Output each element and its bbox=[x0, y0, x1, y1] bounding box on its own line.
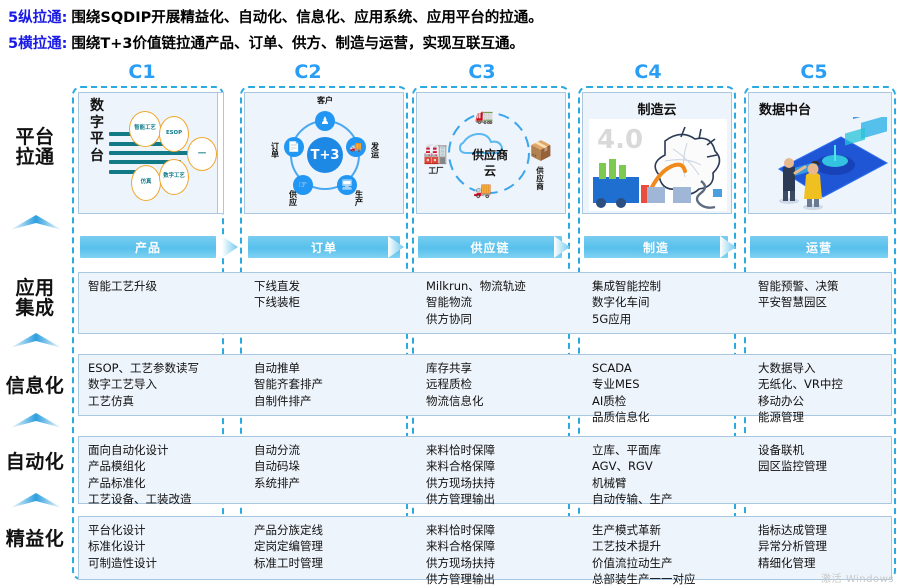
row-label-application-line-1: 应用 bbox=[0, 279, 70, 299]
cell-text: AGV、RGV bbox=[592, 458, 748, 474]
cell-text: 供方管理输出 bbox=[426, 491, 582, 507]
cell-text: 工艺设备、工装改造 bbox=[88, 491, 244, 507]
hand-icon: ☞ bbox=[293, 175, 313, 195]
cell-text: 物流信息化 bbox=[426, 393, 582, 409]
cell-informatization-c5: 大数据导入 无纸化、VR中控 移动办公 能源管理 bbox=[748, 354, 892, 416]
row-label-platform: 平台 拉通 bbox=[0, 128, 70, 168]
cell-lean-c1: 平台化设计 标准化设计 可制造性设计 bbox=[78, 516, 244, 580]
c1-node-1: 智能工艺 bbox=[129, 111, 161, 147]
row-label-automation: 自动化 bbox=[0, 453, 70, 473]
cell-text: 面向自动化设计 bbox=[88, 442, 244, 458]
cell-application-c5: 智能预警、决策 平安智慧园区 bbox=[748, 272, 892, 334]
cell-text: 产品模组化 bbox=[88, 458, 244, 474]
cell-text: 无纸化、VR中控 bbox=[758, 376, 892, 392]
cell-text: 工艺技术提升 bbox=[592, 538, 748, 554]
c1-vertical-title: 数 字 平 台 bbox=[87, 98, 107, 164]
cell-text: 供方现场扶持 bbox=[426, 475, 582, 491]
c2-center-label: T+3 bbox=[307, 137, 343, 173]
cell-text: SCADA bbox=[592, 360, 748, 376]
band-lean-grid: 平台化设计 标准化设计 可制造性设计 产品分族定线 定岗定编管理 标准工时管理 … bbox=[78, 516, 892, 580]
cell-text: Milkrun、物流轨迹 bbox=[426, 278, 582, 294]
cell-text: 智能预警、决策 bbox=[758, 278, 892, 294]
cell-text: 来料恰时保障 bbox=[426, 522, 582, 538]
band-application-grid: 智能工艺升级 下线直发 下线装柜 Milkrun、物流轨迹 智能物流 供方协同 … bbox=[78, 272, 892, 334]
c1-node-5: 数字工艺 bbox=[159, 159, 189, 195]
process-step-manufacturing[interactable]: 制造 bbox=[584, 236, 728, 258]
cell-application-c1: 智能工艺升级 bbox=[78, 272, 244, 334]
cell-automation-c2: 自动分流 自动码垛 系统排产 bbox=[244, 436, 416, 504]
cell-text: 机械臂 bbox=[592, 475, 748, 491]
column-title-c4: C4 bbox=[578, 61, 718, 83]
monitor-icon: 🖥 bbox=[337, 175, 357, 195]
chevron-up-icon-1 bbox=[8, 212, 64, 232]
c2-label-shipping: 发运 bbox=[369, 143, 381, 160]
cell-text: 智能工艺升级 bbox=[88, 278, 244, 294]
c1-title-char-1: 数 bbox=[87, 98, 107, 115]
c5-title: 数据中台 bbox=[749, 99, 891, 118]
row-label-lean: 精益化 bbox=[0, 530, 70, 550]
row-label-informatization-line-1: 信息化 bbox=[0, 377, 70, 397]
cell-informatization-c3: 库存共享 远程质检 物流信息化 bbox=[416, 354, 582, 416]
band-informatization-grid: ESOP、工艺参数读写 数字工艺导入 工艺仿真 自动推单 智能齐套排产 自制件排… bbox=[78, 354, 892, 416]
c5-illustration bbox=[749, 117, 893, 213]
cell-text: 园区监控管理 bbox=[758, 458, 892, 474]
row-label-application-line-2: 集成 bbox=[0, 299, 70, 319]
chevron-up-icon-3 bbox=[8, 410, 64, 430]
cell-text: 设备联机 bbox=[758, 442, 892, 458]
header-line-1-text: 围绕SQDIP开展精益化、自动化、信息化、应用系统、应用平台的拉通。 bbox=[71, 6, 542, 27]
c4-illustration: 4.0 bbox=[589, 119, 727, 211]
cell-text: 平安智慧园区 bbox=[758, 294, 892, 310]
header-line-2-text: 围绕T+3价值链拉通产品、订单、供方、制造与运营，实现互联互通。 bbox=[71, 32, 524, 53]
cell-text: 集成智能控制 bbox=[592, 278, 748, 294]
cell-text: 产品分族定线 bbox=[254, 522, 416, 538]
header-line-1-label: 5纵拉通: bbox=[8, 6, 67, 27]
document-icon: 📄 bbox=[284, 137, 304, 157]
cell-text: 供方管理输出 bbox=[426, 571, 582, 587]
cell-text: ESOP、工艺参数读写 bbox=[88, 360, 244, 376]
process-step-operations[interactable]: 运营 bbox=[750, 236, 888, 258]
platform-cell-c3: 供应商 云 🚛 🚚 🏭 工厂 📦 供应商 bbox=[416, 92, 566, 214]
cell-text: 工艺仿真 bbox=[88, 393, 244, 409]
c3-label-supplier: 供应商 bbox=[533, 167, 547, 191]
cell-text: 产品标准化 bbox=[88, 475, 244, 491]
cell-text: 数字化车间 bbox=[592, 294, 748, 310]
cell-text: 指标达成管理 bbox=[758, 522, 892, 538]
cell-text: 自动分流 bbox=[254, 442, 416, 458]
cell-text: 平台化设计 bbox=[88, 522, 244, 538]
c3-label-factory: 工厂 bbox=[421, 167, 451, 175]
c3-center-label-1: 供应商 bbox=[455, 149, 525, 162]
watermark: 激活 Windows bbox=[821, 570, 894, 585]
c1-title-char-4: 台 bbox=[87, 148, 107, 165]
cell-automation-c3: 来料恰时保障 来料合格保障 供方现场扶持 供方管理输出 bbox=[416, 436, 582, 504]
platform-cell-c2: T+3 客户 ♟ 发运 🚚 生产 🖥 供应 ☞ 订单 📄 bbox=[244, 92, 404, 214]
c1-title-char-3: 平 bbox=[87, 131, 107, 148]
c1-node-2: ESOP bbox=[159, 116, 189, 152]
column-title-c2: C2 bbox=[238, 61, 378, 83]
cell-text: 来料恰时保障 bbox=[426, 442, 582, 458]
cell-informatization-c1: ESOP、工艺参数读写 数字工艺导入 工艺仿真 bbox=[78, 354, 244, 416]
cell-text: 自动推单 bbox=[254, 360, 416, 376]
platform-cell-c4: 制造云 4.0 bbox=[582, 92, 732, 214]
process-step-product[interactable]: 产品 bbox=[80, 236, 216, 258]
cell-text: 来料合格保障 bbox=[426, 458, 582, 474]
process-arrow-1 bbox=[220, 234, 240, 260]
cell-text: 标准化设计 bbox=[88, 538, 244, 554]
header-line-2: 5横拉通: 围绕T+3价值链拉通产品、订单、供方、制造与运营，实现互联互通。 bbox=[8, 32, 892, 53]
cell-application-c2: 下线直发 下线装柜 bbox=[244, 272, 416, 334]
c2-label-order: 订单 bbox=[269, 143, 281, 160]
row-label-platform-line-1: 平台 bbox=[0, 128, 70, 148]
cell-text: 移动办公 bbox=[758, 393, 892, 409]
c3-center-label-2: 云 bbox=[455, 165, 525, 178]
header-line-2-label: 5横拉通: bbox=[8, 32, 67, 53]
cell-text: 可制造性设计 bbox=[88, 555, 244, 571]
cell-informatization-c2: 自动推单 智能齐套排产 自制件排产 bbox=[244, 354, 416, 416]
cell-text: 品质信息化 bbox=[592, 409, 748, 425]
cell-text: 供方现场扶持 bbox=[426, 555, 582, 571]
cell-text: 立库、平面库 bbox=[592, 442, 748, 458]
cell-text: 自制件排产 bbox=[254, 393, 416, 409]
column-title-c1: C1 bbox=[72, 61, 212, 83]
header-line-1: 5纵拉通: 围绕SQDIP开展精益化、自动化、信息化、应用系统、应用平台的拉通。 bbox=[8, 6, 892, 27]
warehouse-box-icon: 📦 bbox=[529, 139, 553, 162]
cell-text: 自动传输、生产 bbox=[592, 491, 748, 507]
cell-text: 下线装柜 bbox=[254, 294, 416, 310]
cell-informatization-c4: SCADA 专业MES AI质检 品质信息化 bbox=[582, 354, 748, 416]
process-arrow-4 bbox=[718, 234, 738, 260]
header: 5纵拉通: 围绕SQDIP开展精益化、自动化、信息化、应用系统、应用平台的拉通。… bbox=[8, 6, 892, 58]
c4-title: 制造云 bbox=[583, 99, 731, 118]
cell-text: 精细化管理 bbox=[758, 555, 892, 571]
platform-cell-c1: 数 字 平 台 智能工艺 ESOP 一 仿真 数字工艺 bbox=[78, 92, 218, 214]
cell-text: 库存共享 bbox=[426, 360, 582, 376]
cell-text: 系统排产 bbox=[254, 475, 416, 491]
cell-text: 下线直发 bbox=[254, 278, 416, 294]
cell-text: 能源管理 bbox=[758, 409, 892, 425]
c2-label-customer: 客户 bbox=[311, 97, 339, 105]
cell-text: 来料合格保障 bbox=[426, 538, 582, 554]
c2-label-production: 生产 bbox=[353, 191, 365, 208]
cell-text: 自动码垛 bbox=[254, 458, 416, 474]
cell-text: 大数据导入 bbox=[758, 360, 892, 376]
column-title-c5: C5 bbox=[744, 61, 884, 83]
platform-cell-c1-spacer bbox=[218, 92, 224, 214]
cell-text: 远程质检 bbox=[426, 376, 582, 392]
cell-text: 生产模式革新 bbox=[592, 522, 748, 538]
cell-application-c4: 集成智能控制 数字化车间 5G应用 bbox=[582, 272, 748, 334]
factory-icon: 🏭 bbox=[423, 141, 448, 165]
column-title-c3: C3 bbox=[412, 61, 552, 83]
row-label-platform-line-2: 拉通 bbox=[0, 148, 70, 168]
cell-automation-c1: 面向自动化设计 产品模组化 产品标准化 工艺设备、工装改造 bbox=[78, 436, 244, 504]
truck-top-icon: 🚛 bbox=[475, 107, 494, 125]
cell-lean-c2: 产品分族定线 定岗定编管理 标准工时管理 bbox=[244, 516, 416, 580]
chevron-up-icon-4 bbox=[8, 490, 64, 510]
chevron-up-icon-2 bbox=[8, 330, 64, 350]
c1-node-3: 一 bbox=[187, 137, 217, 171]
cell-text: AI质检 bbox=[592, 393, 748, 409]
cell-automation-c5: 设备联机 园区监控管理 bbox=[748, 436, 892, 504]
cell-text: 智能齐套排产 bbox=[254, 376, 416, 392]
c1-node-4: 仿真 bbox=[131, 165, 161, 201]
platform-cell-c5: 数据中台 bbox=[748, 92, 892, 214]
cell-text: 价值流拉动生产 bbox=[592, 555, 748, 571]
cell-text: 异常分析管理 bbox=[758, 538, 892, 554]
cell-automation-c4: 立库、平面库 AGV、RGV 机械臂 自动传输、生产 bbox=[582, 436, 748, 504]
process-arrow-3 bbox=[552, 234, 572, 260]
cell-lean-c4: 生产模式革新 工艺技术提升 价值流拉动生产 总部装生产一一对应 bbox=[582, 516, 748, 580]
cell-text: 智能物流 bbox=[426, 294, 582, 310]
truck-icon: 🚚 bbox=[346, 137, 366, 157]
process-arrow-2 bbox=[386, 234, 406, 260]
truck-bottom-icon: 🚚 bbox=[473, 181, 492, 199]
cell-text: 总部装生产一一对应 bbox=[592, 571, 748, 587]
person-icon: ♟ bbox=[315, 111, 335, 131]
cell-text: 5G应用 bbox=[592, 311, 748, 327]
process-step-supplychain[interactable]: 供应链 bbox=[418, 236, 562, 258]
cell-text: 定岗定编管理 bbox=[254, 538, 416, 554]
cell-text: 供方协同 bbox=[426, 311, 582, 327]
c1-title-char-2: 字 bbox=[87, 115, 107, 132]
row-label-automation-line-1: 自动化 bbox=[0, 453, 70, 473]
cell-text: 标准工时管理 bbox=[254, 555, 416, 571]
cell-text: 专业MES bbox=[592, 376, 748, 392]
row-label-informatization: 信息化 bbox=[0, 377, 70, 397]
cell-lean-c3: 来料恰时保障 来料合格保障 供方现场扶持 供方管理输出 bbox=[416, 516, 582, 580]
band-automation-grid: 面向自动化设计 产品模组化 产品标准化 工艺设备、工装改造 自动分流 自动码垛 … bbox=[78, 436, 892, 504]
cell-application-c3: Milkrun、物流轨迹 智能物流 供方协同 bbox=[416, 272, 582, 334]
row-label-lean-line-1: 精益化 bbox=[0, 530, 70, 550]
row-label-application: 应用 集成 bbox=[0, 279, 70, 319]
cell-text: 数字工艺导入 bbox=[88, 376, 244, 392]
process-step-order[interactable]: 订单 bbox=[248, 236, 400, 258]
